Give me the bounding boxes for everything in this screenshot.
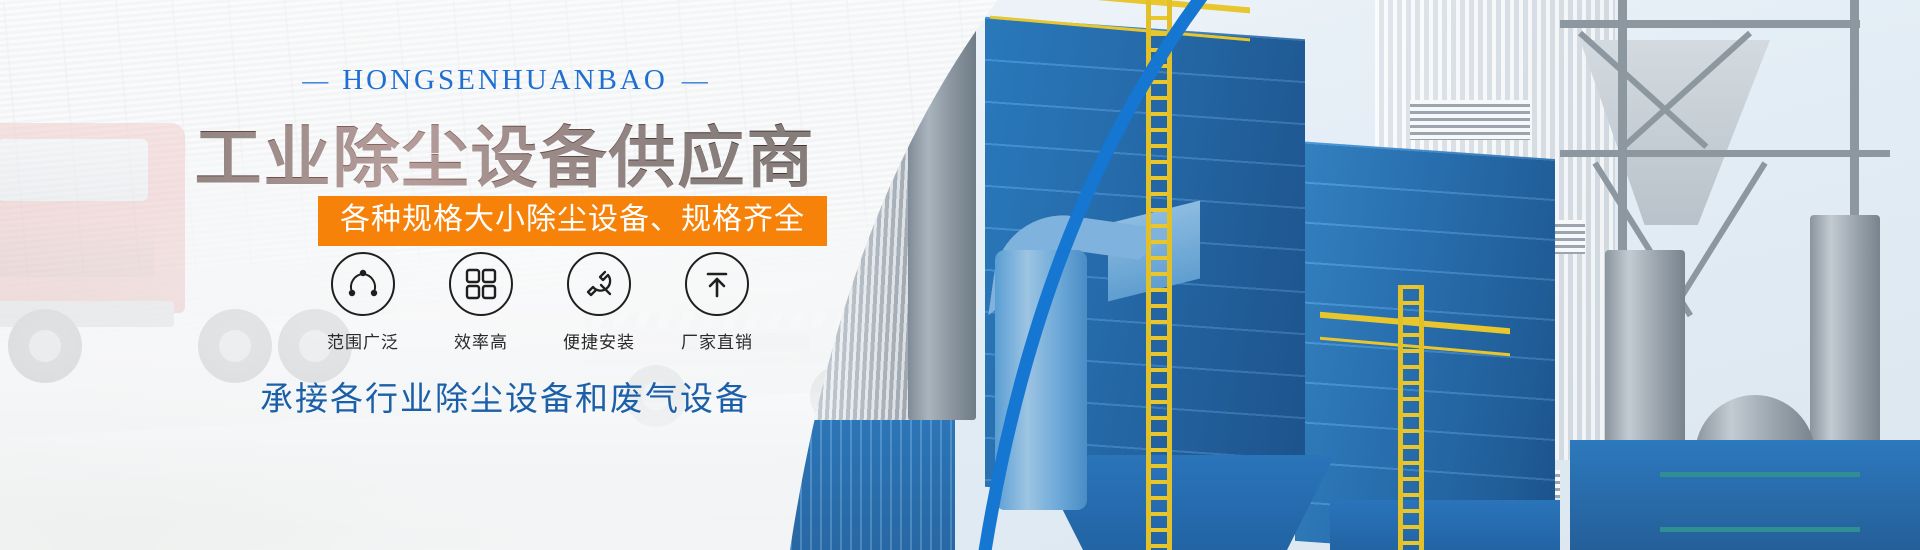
feature-label: 厂家直销	[664, 328, 770, 353]
caged-ladder	[1146, 0, 1172, 550]
steel-truss	[1560, 150, 1890, 157]
feature-label: 效率高	[428, 328, 534, 353]
baghouse-support-legs	[1330, 500, 1560, 550]
steel-truss	[1560, 20, 1860, 28]
wrench-circle-icon	[581, 266, 617, 302]
four-squares-grid-icon	[464, 267, 498, 301]
feature-list: 范围广泛 效率高	[310, 252, 770, 353]
feature-item-wide-range[interactable]: 范围广泛	[310, 252, 416, 353]
feature-icon-circle	[567, 252, 631, 316]
kicker-text: HONGSENHUANBAO	[342, 64, 668, 96]
banner-subline: 承接各行业除尘设备和废气设备	[0, 372, 1010, 420]
feature-icon-circle	[331, 252, 395, 316]
feature-icon-circle	[685, 252, 749, 316]
feature-item-easy-install[interactable]: 便捷安装	[546, 252, 652, 353]
page-title: 工业除尘设备供应商	[0, 104, 1010, 201]
banner-text-content: —HONGSENHUANBAO— 工业除尘设备供应商 各种规格大小除尘设备、规格…	[0, 0, 1010, 550]
up-arrow-icon	[700, 267, 734, 301]
steel-column	[1618, 0, 1627, 250]
feature-icon-circle	[449, 252, 513, 316]
kicker-dash-left: —	[288, 66, 342, 95]
kicker-dash-right: —	[668, 66, 722, 95]
tagline-text: 各种规格大小除尘设备、规格齐全	[340, 202, 805, 237]
feature-label: 便捷安装	[546, 328, 652, 353]
feature-item-factory-direct[interactable]: 厂家直销	[664, 252, 770, 353]
feature-label: 范围广泛	[310, 328, 416, 353]
feature-item-high-efficiency[interactable]: 效率高	[428, 252, 534, 353]
tagline-badge: 各种规格大小除尘设备、规格齐全	[318, 196, 827, 246]
caged-ladder	[1398, 285, 1424, 550]
brand-kicker: —HONGSENHUANBAO—	[0, 64, 1010, 97]
building-louver	[1410, 100, 1530, 140]
teal-handrail	[1660, 472, 1860, 532]
network-nodes-icon	[345, 266, 381, 302]
hero-banner: —HONGSENHUANBAO— 工业除尘设备供应商 各种规格大小除尘设备、规格…	[0, 0, 1920, 550]
